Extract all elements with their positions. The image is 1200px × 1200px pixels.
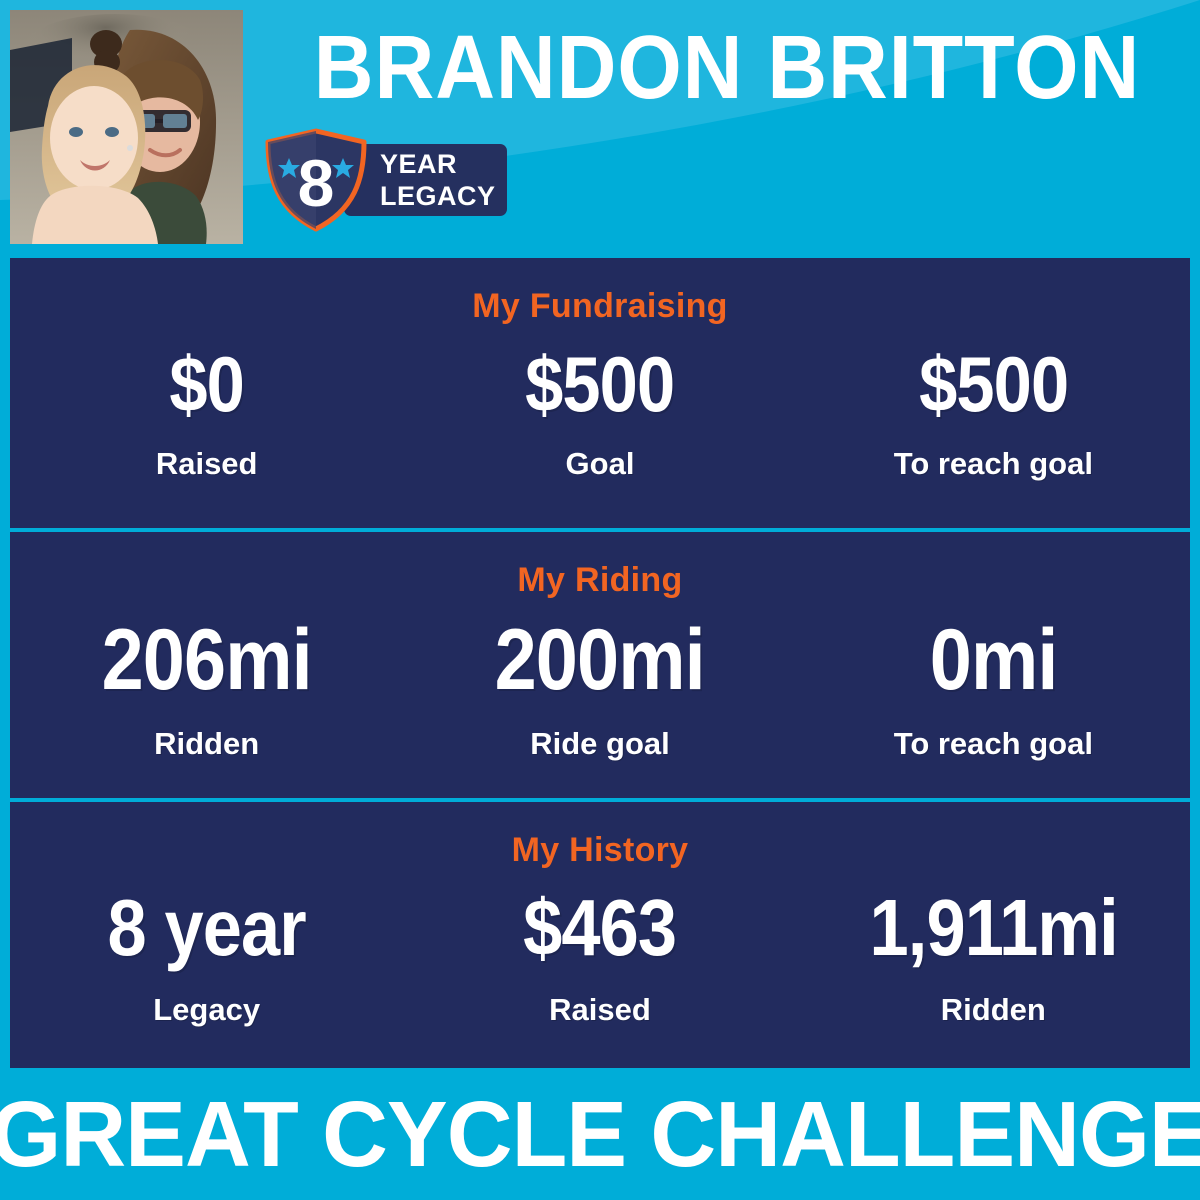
stat-value: $0: [34, 336, 380, 432]
stat-to-reach-goal: $500 To reach goal: [797, 336, 1190, 484]
stat-value: 200mi: [427, 608, 773, 712]
stat-label: Raised: [403, 990, 796, 1030]
stat-label: To reach goal: [797, 724, 1190, 764]
stat-value: $463: [427, 878, 773, 978]
stat-value: 8 year: [34, 878, 380, 978]
stat-row-history: 8 year Legacy $463 Raised 1,911mi Ridden: [10, 878, 1190, 1030]
stat-ride-goal: 200mi Ride goal: [403, 608, 796, 764]
stat-value: 1,911mi: [820, 878, 1166, 978]
stat-row-riding: 206mi Ridden 200mi Ride goal 0mi To reac…: [10, 608, 1190, 764]
rider-fundraising-card: BRANDON BRITTON 8 YEAR LEGACY My Fundra: [0, 0, 1200, 1200]
panel-title-riding: My Riding: [10, 560, 1190, 600]
stat-row-fundraising: $0 Raised $500 Goal $500 To reach goal: [10, 336, 1190, 484]
header: BRANDON BRITTON 8 YEAR LEGACY: [0, 0, 1200, 258]
stat-history-ridden: 1,911mi Ridden: [797, 878, 1190, 1030]
stat-value: 0mi: [820, 608, 1166, 712]
shield-icon: 8: [262, 128, 370, 232]
page-title: BRANDON BRITTON: [299, 16, 1155, 120]
stat-label: Raised: [10, 444, 403, 484]
stat-value: $500: [820, 336, 1166, 432]
legacy-badge: 8 YEAR LEGACY: [262, 128, 507, 232]
stat-value: 206mi: [34, 608, 380, 712]
panel-title-fundraising: My Fundraising: [10, 286, 1190, 326]
stat-value: $500: [427, 336, 773, 432]
stat-label: Ride goal: [403, 724, 796, 764]
stat-label: Ridden: [797, 990, 1190, 1030]
legacy-plate-label: YEAR LEGACY: [380, 148, 510, 212]
stat-history-raised: $463 Raised: [403, 878, 796, 1030]
stat-raised: $0 Raised: [10, 336, 403, 484]
stat-ridden: 206mi Ridden: [10, 608, 403, 764]
stat-label: Ridden: [10, 724, 403, 764]
stat-legacy: 8 year Legacy: [10, 878, 403, 1030]
stats-container: My Fundraising $0 Raised $500 Goal $500 …: [10, 258, 1190, 1068]
panel-title-history: My History: [10, 830, 1190, 870]
stat-goal: $500 Goal: [403, 336, 796, 484]
panel-history: My History 8 year Legacy $463 Raised 1,9…: [10, 798, 1190, 1064]
stat-label: Legacy: [10, 990, 403, 1030]
legacy-year-text: YEAR: [380, 148, 510, 180]
stat-label: To reach goal: [797, 444, 1190, 484]
avatar: [10, 10, 243, 244]
panel-fundraising: My Fundraising $0 Raised $500 Goal $500 …: [10, 258, 1190, 528]
svg-text:8: 8: [298, 146, 335, 220]
stat-label: Goal: [403, 444, 796, 484]
footer: GREAT CYCLE CHALLENGE: [0, 1068, 1200, 1200]
panel-riding: My Riding 206mi Ridden 200mi Ride goal 0…: [10, 528, 1190, 798]
legacy-legacy-text: LEGACY: [380, 180, 510, 212]
stat-ride-to-reach-goal: 0mi To reach goal: [797, 608, 1190, 764]
brand-wordmark: GREAT CYCLE CHALLENGE: [0, 1082, 1200, 1186]
